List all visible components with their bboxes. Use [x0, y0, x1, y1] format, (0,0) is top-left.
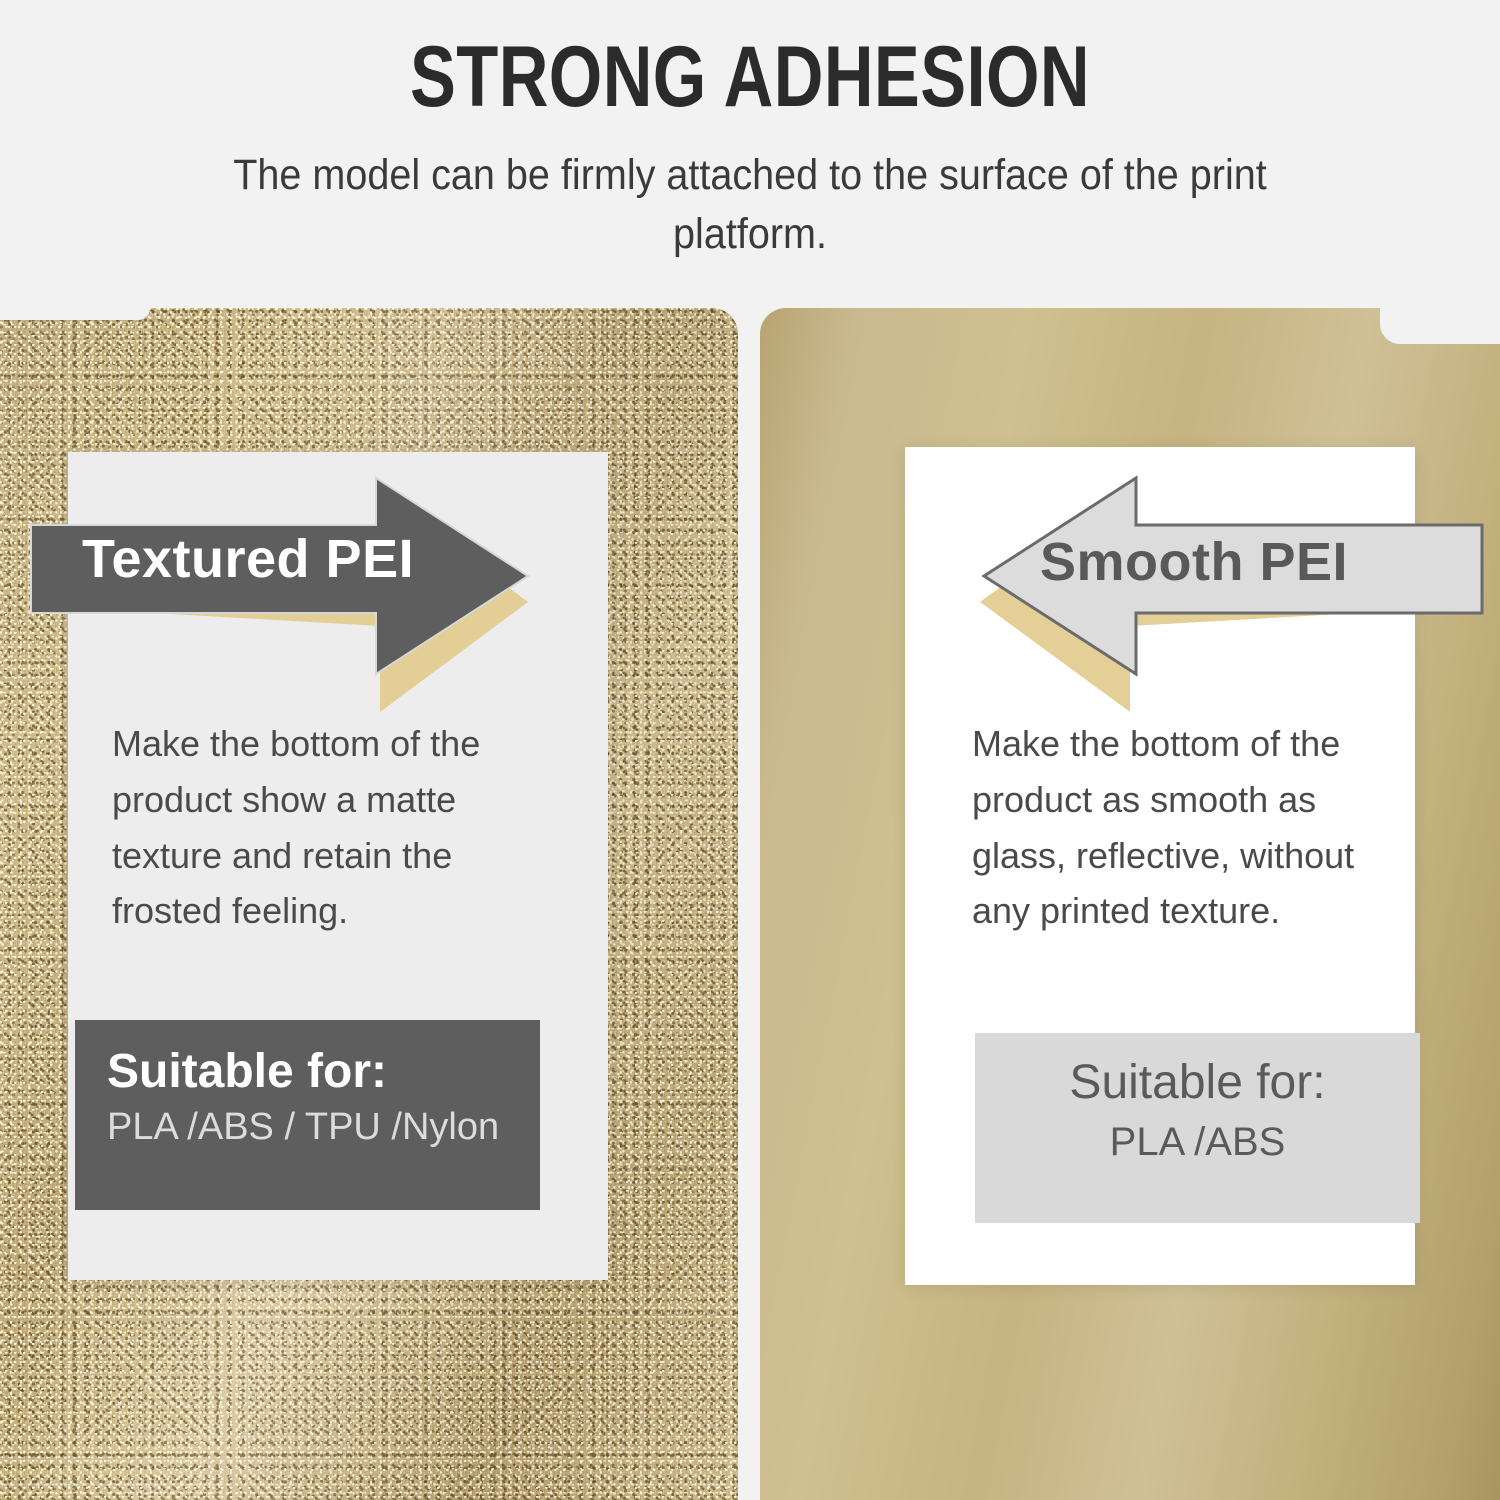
suitable-materials-list: PLA /ABS / TPU /Nylon: [107, 1103, 540, 1152]
header-banner: STRONG ADHESION The model can be firmly …: [0, 0, 1500, 302]
page-subtitle: The model can be firmly attached to the …: [207, 146, 1293, 265]
infographic-canvas: STRONG ADHESION The model can be firmly …: [0, 0, 1500, 1500]
page-title: STRONG ADHESION: [150, 34, 1350, 120]
smooth-plate-top-notch: [1380, 308, 1500, 344]
smooth-pei-banner-label: Smooth PEI: [1040, 531, 1348, 593]
suitable-for-label: Suitable for:: [975, 1055, 1420, 1110]
suitable-materials-list: PLA /ABS: [975, 1116, 1420, 1168]
textured-pei-suitable-block: Suitable for: PLA /ABS / TPU /Nylon: [75, 1020, 540, 1210]
smooth-pei-suitable-block: Suitable for: PLA /ABS: [975, 1033, 1420, 1223]
textured-pei-description: Make the bottom of the product show a ma…: [112, 716, 542, 939]
smooth-pei-description: Make the bottom of the product as smooth…: [972, 716, 1392, 939]
textured-plate-top-notch: [0, 308, 150, 320]
textured-pei-banner-label: Textured PEI: [82, 528, 414, 590]
suitable-for-label: Suitable for:: [107, 1044, 540, 1099]
